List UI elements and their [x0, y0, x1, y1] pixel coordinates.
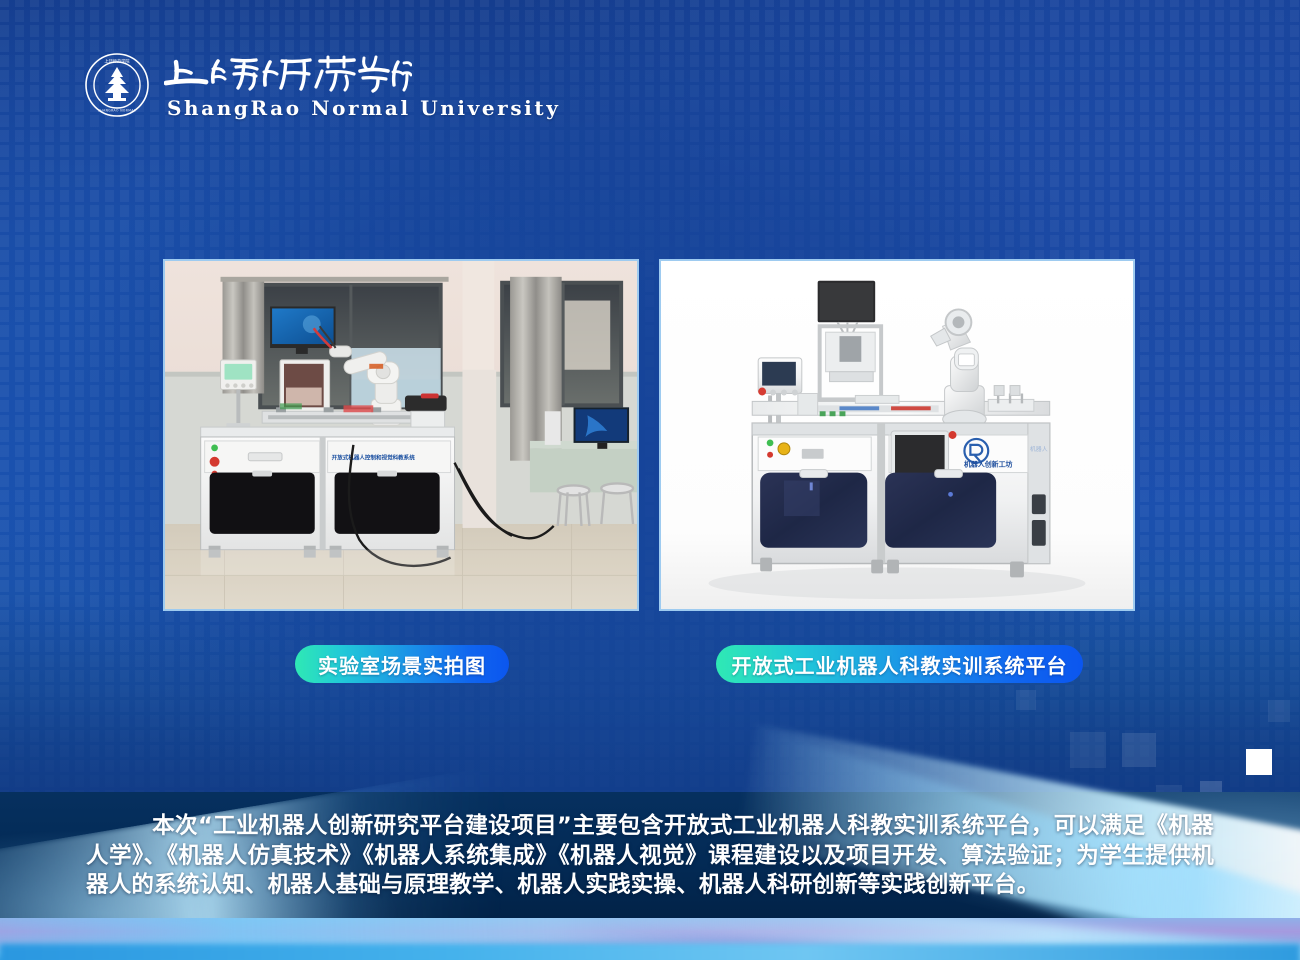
accent-wave	[0, 944, 1300, 960]
university-logo: 上饶师范学院 SHANGRAO NORMAL	[84, 52, 560, 118]
decor-square	[1122, 733, 1156, 767]
lab-scene-photo[interactable]: 开放式机器人控制和视觉科教系统	[163, 259, 639, 611]
university-seal-icon: 上饶师范学院 SHANGRAO NORMAL	[84, 52, 150, 118]
svg-text:开放式机器人控制和视觉科教系统: 开放式机器人控制和视觉科教系统	[332, 454, 416, 462]
svg-text:机器人: 机器人	[1030, 445, 1048, 453]
logo-name-en: ShangRao Normal University	[164, 98, 560, 118]
logo-wordmark: ShangRao Normal University	[164, 52, 560, 118]
decor-square-highlight	[1246, 749, 1272, 775]
decor-square	[1016, 690, 1036, 710]
svg-text:上饶师范学院: 上饶师范学院	[104, 58, 130, 65]
image-gallery: 开放式机器人控制和视觉科教系统	[163, 259, 1139, 613]
decor-square	[1268, 700, 1290, 722]
description-paragraph: 本次“工业机器人创新研究平台建设项目”主要包含开放式工业机器人科教实训系统平台，…	[86, 812, 1214, 901]
decor-square	[1070, 732, 1106, 768]
slide-canvas: 上饶师范学院 SHANGRAO NORMAL	[0, 0, 1300, 960]
svg-text:SHANGRAO NORMAL: SHANGRAO NORMAL	[98, 109, 136, 113]
caption-pill-lab-scene[interactable]: 实验室场景实拍图	[295, 645, 509, 683]
caption-row: 实验室场景实拍图 开放式工业机器人科教实训系统平台	[163, 645, 1139, 683]
logo-name-cn	[164, 52, 560, 96]
svg-text:机器人创新工坊: 机器人创新工坊	[964, 460, 1013, 469]
platform-product-render[interactable]: 机器人创新工坊 机器人	[659, 259, 1135, 611]
caption-pill-platform[interactable]: 开放式工业机器人科教实训系统平台	[716, 645, 1083, 683]
bottom-accent-band	[0, 918, 1300, 960]
